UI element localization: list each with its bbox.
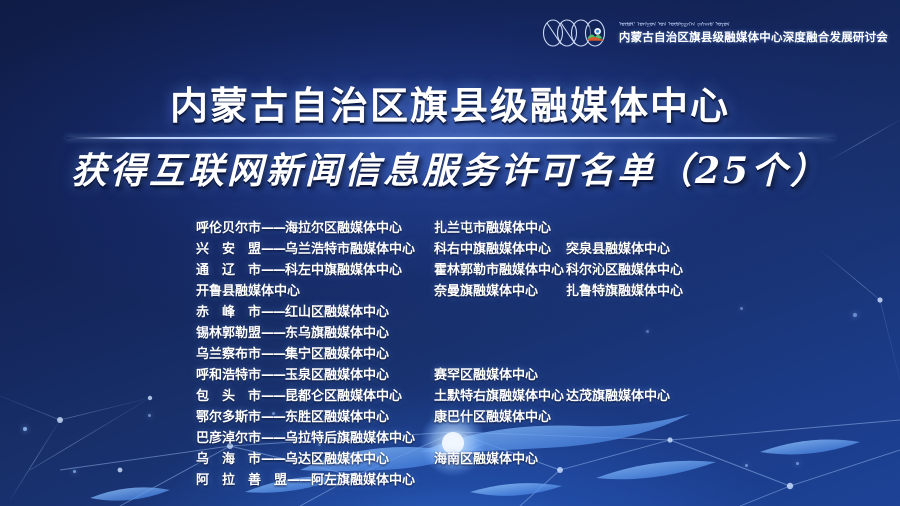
list-row-center-tertiary: [554, 218, 796, 239]
star-dot: [23, 427, 27, 431]
list-row-center-tertiary: [554, 323, 796, 344]
list-row-center-primary: 阿左旗融媒体中心: [311, 473, 415, 488]
media-center-list: 呼伦贝尔市——海拉尔区融媒体中心扎兰屯市融媒体中心兴 安 盟——乌兰浩特市融媒体…: [196, 218, 796, 491]
list-row-region: 通 辽 市——科左中旗融媒体中心: [196, 260, 428, 281]
list-row-dash: ——: [261, 347, 285, 362]
list-row-center-primary: 东乌旗融媒体中心: [285, 326, 389, 341]
list-row-center-secondary: 康巴什区融媒体中心: [428, 407, 554, 428]
list-row-dash: ——: [261, 452, 285, 467]
list-row-dash: ——: [261, 326, 285, 341]
list-row-center-primary: 海拉尔区融媒体中心: [285, 221, 402, 236]
list-row-dash: ——: [261, 263, 285, 278]
list-row-center-primary: 集宁区融媒体中心: [285, 347, 389, 362]
list-row-center-secondary: 奈曼旗融媒体中心: [428, 281, 554, 302]
list-row-center-secondary: 土默特右旗融媒体中心: [428, 386, 554, 407]
list-row-center-secondary: 赛罕区融媒体中心: [428, 365, 554, 386]
list-row-center-tertiary: [554, 470, 796, 491]
list-row-center-primary: 开鲁县融媒体中心: [196, 284, 300, 299]
star-dot: [796, 462, 799, 465]
list-row-center-primary: 玉泉区融媒体中心: [285, 368, 389, 383]
list-row-center-primary: 红山区融媒体中心: [285, 305, 389, 320]
list-row-region: 呼伦贝尔市——海拉尔区融媒体中心: [196, 218, 428, 239]
list-row-region: 开鲁县融媒体中心: [196, 281, 428, 302]
star-dot: [73, 470, 76, 473]
poster-title-block: 内蒙古自治区旗县级融媒体中心 获得互联网新闻信息服务许可名单（25个）: [0, 82, 900, 193]
list-row-region: 阿 拉 善 盟——阿左旗融媒体中心: [196, 470, 428, 491]
logo-2020-icon: [541, 14, 613, 52]
star-dot: [148, 414, 151, 417]
list-row-center-primary: 昆都仑区融媒体中心: [285, 389, 402, 404]
logo-title-text: 内蒙古自治区旗县级融媒体中心深度融合发展研讨会: [619, 33, 888, 45]
page-title-line2: 获得互联网新闻信息服务许可名单（25个）: [0, 149, 900, 193]
list-row-dash: ——: [261, 389, 285, 404]
list-row-center-secondary: [428, 428, 554, 449]
list-row-dash: ——: [261, 410, 285, 425]
list-row-region: 巴彦淖尔市——乌拉特后旗融媒体中心: [196, 428, 428, 449]
list-row-center-tertiary: 科尔沁区融媒体中心: [554, 260, 796, 281]
list-row-center-tertiary: 扎鲁特旗融媒体中心: [554, 281, 796, 302]
list-row-center-secondary: 扎兰屯市融媒体中心: [428, 218, 554, 239]
cloud-mountain-icon: [586, 25, 603, 42]
list-row-region: 乌 海 市——乌达区融媒体中心: [196, 449, 428, 470]
list-row-region: 包 头 市——昆都仑区融媒体中心: [196, 386, 428, 407]
list-row-region: 兴 安 盟——乌兰浩特市融媒体中心: [196, 239, 428, 260]
title-divider: [66, 137, 834, 139]
list-row-center-secondary: 霍林郭勒市融媒体中心: [428, 260, 554, 281]
list-row-center-tertiary: 突泉县融媒体中心: [554, 239, 796, 260]
list-row-center-primary: 科左中旗融媒体中心: [285, 263, 402, 278]
event-logo: ᠥᠪᠥᠷ ᠮᠣᠩᠭᠣᠯ ᠤᠨ ᠥᠪᠡᠷᠲᠡᠭᠡᠨ ᠵᠠᠰᠠᠬᠤ ᠣᠷᠣᠨ 内蒙古…: [541, 14, 888, 52]
list-row-dash: ——: [287, 473, 311, 488]
poster-canvas: ᠥᠪᠥᠷ ᠮᠣᠩᠭᠣᠯ ᠤᠨ ᠥᠪᠡᠷᠲᠡᠭᠡᠨ ᠵᠠᠰᠠᠬᠤ ᠣᠷᠣᠨ 内蒙古…: [0, 0, 900, 506]
list-row-region: 呼和浩特市——玉泉区融媒体中心: [196, 365, 428, 386]
list-row-center-secondary: [428, 470, 554, 491]
list-row-center-tertiary: [554, 407, 796, 428]
list-row-center-tertiary: [554, 428, 796, 449]
list-row-center-secondary: 海南区融媒体中心: [428, 449, 554, 470]
list-row-dash: ——: [261, 221, 285, 236]
list-row-region: 赤 峰 市——红山区融媒体中心: [196, 302, 428, 323]
list-row-center-primary: 乌达区融媒体中心: [285, 452, 389, 467]
list-row-center-primary: 乌兰浩特市融媒体中心: [285, 242, 415, 257]
list-row-center-secondary: 科右中旗融媒体中心: [428, 239, 554, 260]
star-dot: [853, 313, 857, 317]
list-row-region: 锡林郭勒盟——东乌旗融媒体中心: [196, 323, 428, 344]
list-row-dash: ——: [261, 305, 285, 320]
list-row-dash: ——: [261, 431, 285, 446]
list-row-center-primary: 东胜区融媒体中心: [285, 410, 389, 425]
list-row-center-tertiary: 达茂旗融媒体中心: [554, 386, 796, 407]
list-row-region: 鄂尔多斯市——东胜区融媒体中心: [196, 407, 428, 428]
list-row-region: 乌兰察布市——集宁区融媒体中心: [196, 344, 428, 365]
list-row-center-tertiary: [554, 302, 796, 323]
list-row-center-secondary: [428, 323, 554, 344]
list-row-dash: ——: [261, 242, 285, 257]
list-row-dash: ——: [261, 368, 285, 383]
list-row-center-primary: 乌拉特后旗融媒体中心: [285, 431, 415, 446]
list-row-center-secondary: [428, 344, 554, 365]
page-title-line1: 内蒙古自治区旗县级融媒体中心: [0, 82, 900, 130]
list-row-center-tertiary: [554, 365, 796, 386]
list-row-center-tertiary: [554, 344, 796, 365]
list-row-center-tertiary: [554, 449, 796, 470]
logo-mongolian-text: ᠥᠪᠥᠷ ᠮᠣᠩᠭᠣᠯ ᠤᠨ ᠥᠪᠡᠷᠲᠡᠭᠡᠨ ᠵᠠᠰᠠᠬᠤ ᠣᠷᠣᠨ: [619, 22, 888, 33]
list-row-center-secondary: [428, 302, 554, 323]
